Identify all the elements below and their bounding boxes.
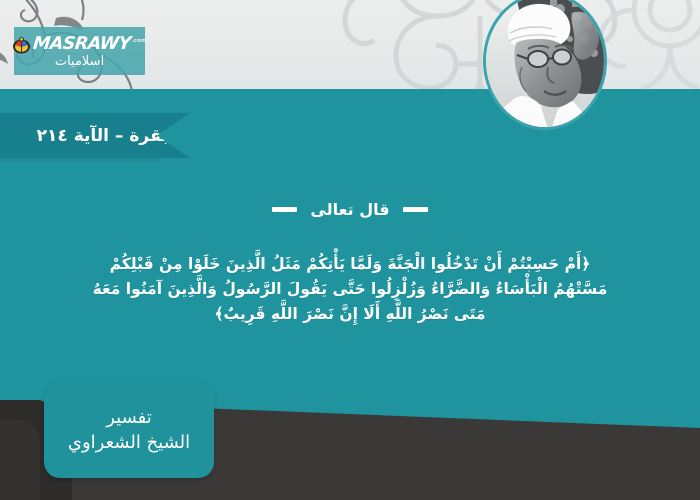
logo-word: MASRAWY [32,36,131,54]
masrawy-scarab-icon [12,36,31,55]
sheikh-portrait-icon [486,0,604,127]
dash-icon-left [272,207,297,212]
verse-line-1: ﴿أَمْ حَسِبْتُمْ أَنْ تَدْخُلُوا الْجَنَ… [22,252,678,277]
said-label: قال تعالى [310,200,389,219]
surah-ayah-label: البقرة – الآية ٢١٤ [37,126,182,146]
said-heading: قال تعالى [0,200,700,219]
logo-wordmark: MASRAWY .com [33,36,147,54]
verse-card: MASRAWY .com اسلاميات [0,0,700,500]
verse-line-3: مَتَى نَصْرُ اللَّهِ أَلَا إِنَّ نَصْرَ … [22,302,678,327]
footer-fold-shadow-inner [0,420,40,500]
logo-tld: .com [131,38,147,44]
logo-subtitle: اسلاميات [55,55,104,70]
verse-line-2: مَسَّتْهُمُ الْبَأْسَاءُ وَالضَّرَّاءُ و… [22,277,678,302]
tafsir-label-line1: تفسير [106,407,152,429]
masrawy-logo[interactable]: MASRAWY .com اسلاميات [14,27,145,75]
tafsir-badge[interactable]: تفسير الشيخ الشعراوي [44,382,214,478]
verse-text: ﴿أَمْ حَسِبْتُمْ أَنْ تَدْخُلُوا الْجَنَ… [22,252,678,327]
logo-wordmark-row: MASRAWY .com [12,34,147,56]
sheikh-portrait [483,0,607,130]
ribbon-shadow [0,158,160,162]
tafsir-label-line2: الشيخ الشعراوي [68,432,190,454]
dash-icon-right [403,207,428,212]
surah-ayah-ribbon: البقرة – الآية ٢١٤ [0,113,190,158]
